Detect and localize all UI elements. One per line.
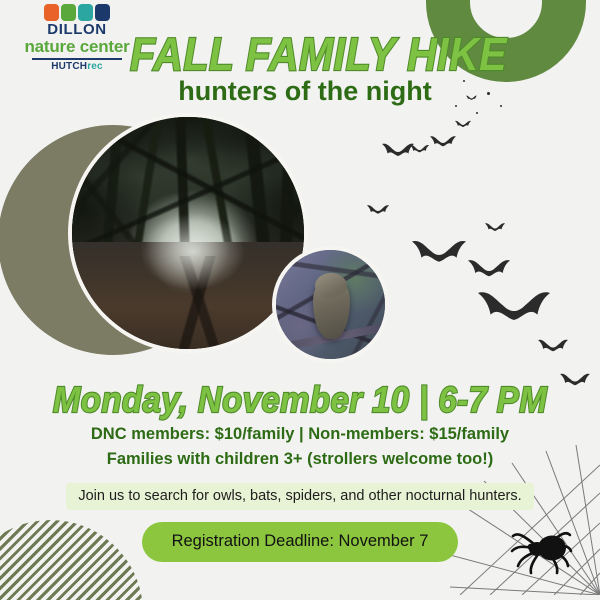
forest-photo [68, 113, 308, 353]
families-eligibility-line: Families with children 3+ (strollers wel… [0, 450, 600, 469]
bat-icon [468, 258, 510, 284]
bat-speck-icon [500, 105, 502, 107]
logo-swatch-teal [78, 4, 93, 21]
logo-swatch-navy [95, 4, 110, 21]
owl-head [315, 273, 347, 299]
forest-photo-mist [72, 117, 304, 349]
logo-swatch-green [61, 4, 76, 21]
bat-icon [412, 238, 466, 272]
logo-nature-center-text: nature center [18, 38, 136, 56]
logo-rec-text: rec [87, 61, 103, 72]
bat-icon [485, 222, 505, 235]
bat-icon [478, 288, 550, 334]
logo-swatch-orange [44, 4, 59, 21]
registration-deadline-button[interactable]: Registration Deadline: November 7 [142, 522, 459, 562]
logo-dillon-text: DILLON [18, 22, 136, 38]
description-container: Join us to search for owls, bats, spider… [0, 483, 600, 510]
pricing-line: DNC members: $10/family | Non-members: $… [0, 425, 600, 444]
bat-speck-icon [476, 112, 478, 114]
dillon-nature-center-logo: DILLON nature center HUTCHrec [18, 4, 136, 72]
registration-container: Registration Deadline: November 7 [0, 522, 600, 562]
poster-subtitle: hunters of the night [130, 78, 480, 105]
bat-speck-icon [487, 92, 490, 95]
logo-divider [32, 58, 122, 60]
bat-icon [382, 142, 414, 162]
event-date-time: Monday, November 10 | 6-7 PM [0, 379, 600, 421]
bat-speck-icon [455, 105, 457, 107]
event-description: Join us to search for owls, bats, spider… [66, 483, 533, 510]
owl-photo [272, 246, 389, 363]
bat-icon [455, 120, 471, 130]
poster-title: FALL FAMILY HIKE [130, 32, 480, 78]
logo-mark-icon [18, 4, 136, 21]
poster-canvas: DILLON nature center HUTCHrec FALL FAMIL… [0, 0, 600, 600]
bat-icon [430, 135, 456, 151]
logo-hutch-text: HUTCH [51, 61, 87, 72]
bat-icon [367, 204, 389, 218]
logo-hutchrec-text: HUTCHrec [18, 62, 136, 72]
bat-icon [538, 338, 568, 357]
